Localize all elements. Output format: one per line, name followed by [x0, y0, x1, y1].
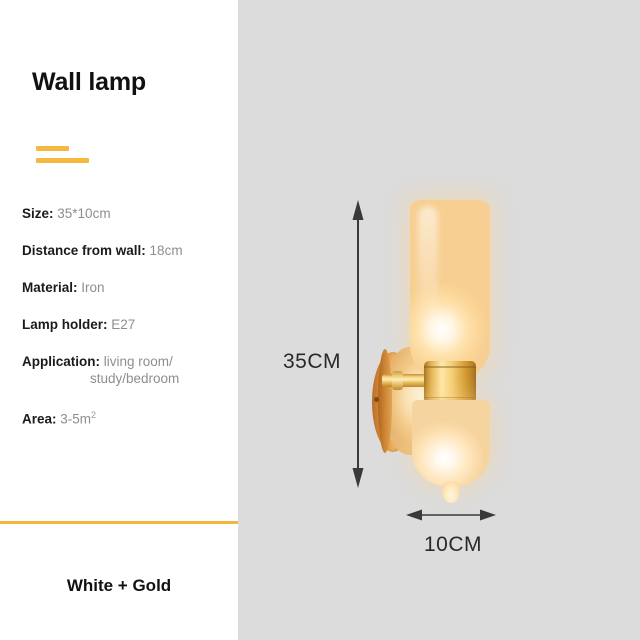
spec-row-area: Area: 3-5m2	[22, 407, 232, 428]
arrowhead-up-icon	[353, 200, 364, 220]
spec-value: 3-5m	[60, 412, 91, 427]
spec-label: Area:	[22, 412, 57, 427]
accent-decoration	[36, 146, 156, 170]
info-panel: Wall lamp Size: 35*10cm Distance from wa…	[0, 0, 238, 640]
product-photo: 35CM 10CM	[238, 0, 640, 640]
page-title: Wall lamp	[32, 68, 146, 97]
spec-row-application: Application: living room/ study/bedroom	[22, 353, 232, 387]
arrowhead-down-icon	[353, 468, 364, 488]
spec-row-size: Size: 35*10cm	[22, 205, 232, 222]
spec-row-distance-from-wall: Distance from wall: 18cm	[22, 242, 232, 259]
spec-label: Material:	[22, 280, 78, 295]
product-spec-card: Wall lamp Size: 35*10cm Distance from wa…	[0, 0, 640, 640]
spec-label: Size:	[22, 206, 54, 221]
color-variant-label: White + Gold	[0, 576, 238, 596]
height-dimension-label: 35CM	[261, 350, 341, 374]
spec-list: Size: 35*10cm Distance from wall: 18cm M…	[22, 205, 232, 448]
spec-value-continuation: study/bedroom	[22, 370, 232, 387]
wall-plate-screw	[374, 397, 379, 402]
wall-plate-rim	[378, 349, 392, 453]
upper-shade-highlight	[418, 206, 438, 326]
gold-divider	[0, 521, 238, 524]
width-dimension-arrow	[406, 505, 496, 535]
spec-value: Iron	[81, 280, 104, 295]
arrowhead-right-icon	[480, 510, 496, 521]
center-collar	[424, 361, 476, 403]
lamp-arm	[382, 374, 430, 387]
spec-value: E27	[111, 317, 135, 332]
lamp-arm-knob	[392, 371, 403, 390]
spec-row-material: Material: Iron	[22, 279, 232, 296]
collar-groove-top	[424, 366, 476, 368]
collar-groove-bottom	[424, 397, 476, 399]
wall-lamp-image	[368, 195, 508, 505]
glass-finial	[442, 481, 460, 503]
width-dimension-label: 10CM	[398, 533, 508, 557]
accent-bar-short	[36, 146, 69, 151]
spec-value: 18cm	[150, 243, 183, 258]
spec-value: living room/	[104, 354, 173, 369]
lower-shade	[412, 400, 490, 486]
spec-value-superscript: 2	[91, 410, 96, 420]
spec-row-lamp-holder: Lamp holder: E27	[22, 316, 232, 333]
spec-label: Application:	[22, 354, 100, 369]
upper-shade	[410, 200, 490, 380]
spec-label: Distance from wall:	[22, 243, 146, 258]
spec-value: 35*10cm	[57, 206, 110, 221]
spec-label: Lamp holder:	[22, 317, 108, 332]
arrowhead-left-icon	[406, 510, 422, 521]
accent-bar-long	[36, 158, 89, 163]
